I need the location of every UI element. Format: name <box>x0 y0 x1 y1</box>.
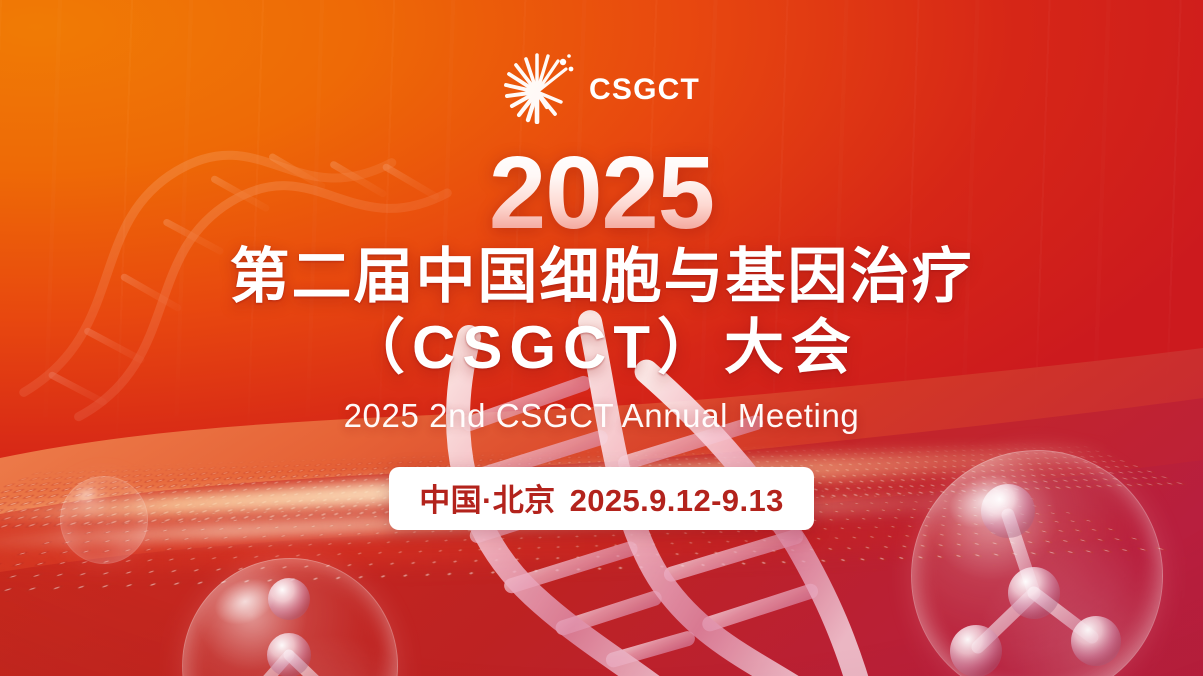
page-title: 第二届中国细胞与基因治疗 （CSGCT）大会 <box>230 243 974 381</box>
conference-poster: CSGCT 2025 第二届中国细胞与基因治疗 （CSGCT）大会 2025 2… <box>0 0 1203 676</box>
logo-wordmark: CSGCT <box>589 71 700 105</box>
logo: CSGCT <box>503 52 700 124</box>
date-location-badge: 中国·北京2025.9.12-9.13 <box>389 467 814 530</box>
subtitle-english: 2025 2nd CSGCT Annual Meeting <box>344 397 860 435</box>
poster-content: CSGCT 2025 第二届中国细胞与基因治疗 （CSGCT）大会 2025 2… <box>0 0 1203 676</box>
title-line-1: 第二届中国细胞与基因治疗 <box>230 243 974 310</box>
date-text: 2025.9.12-9.13 <box>570 483 784 518</box>
title-line-2: （CSGCT）大会 <box>230 314 974 381</box>
radial-burst-icon <box>503 52 575 124</box>
location-text: 中国·北京 <box>419 483 555 518</box>
year-heading: 2025 <box>489 146 714 241</box>
